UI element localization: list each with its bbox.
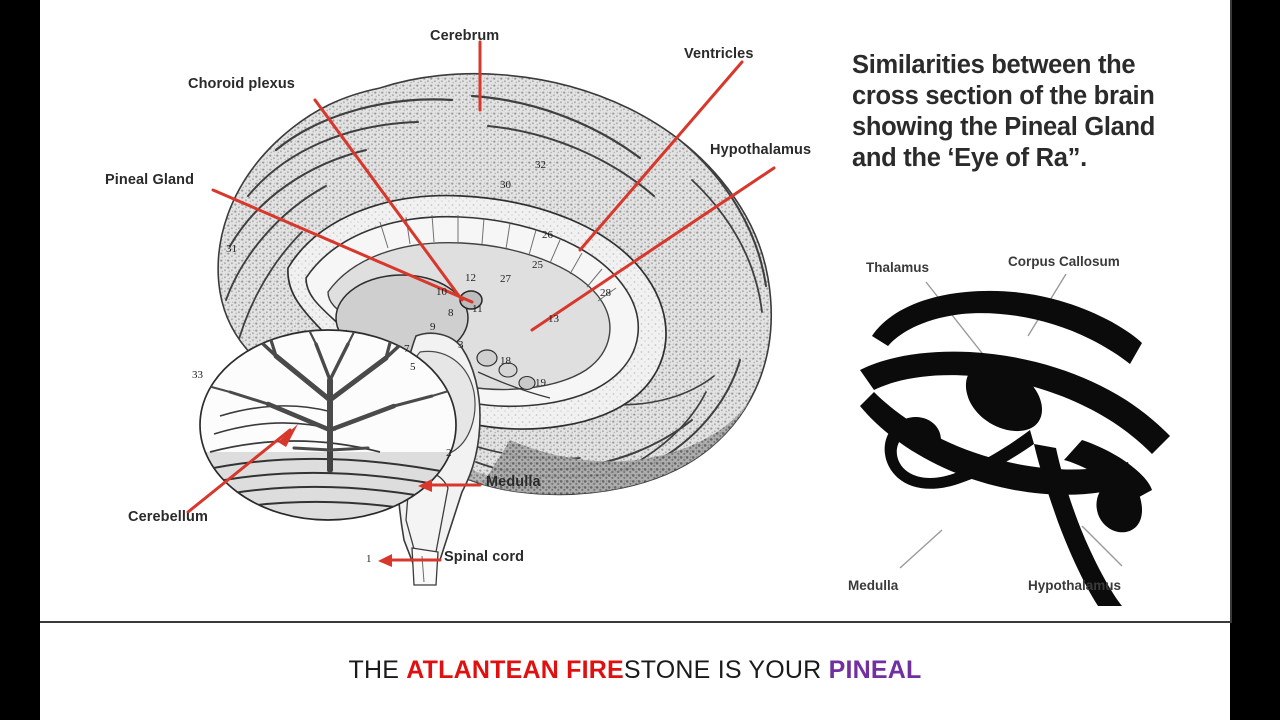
- eye-of-ra-glyph: [860, 291, 1170, 606]
- svg-text:10: 10: [436, 286, 448, 298]
- eye-label-corpus-callosum: Corpus Callosum: [1008, 254, 1120, 269]
- caption-text: THE ATLANTEAN FIRESTONE IS YOUR PINEAL: [349, 656, 922, 685]
- svg-text:12: 12: [465, 272, 476, 284]
- svg-text:25: 25: [532, 259, 544, 271]
- svg-text:8: 8: [448, 307, 454, 319]
- brain-cross-section-figure: 32 30 26 25 27 28 12 10 11 9 8 7 5 3 2 1: [80, 0, 840, 620]
- spinal-cord-shape: [412, 548, 438, 585]
- eye-of-ra-figure: Thalamus Corpus Callosum Medulla Hypotha…: [830, 240, 1230, 610]
- brain-illustration: 32 30 26 25 27 28 12 10 11 9 8 7 5 3 2 1: [80, 0, 840, 620]
- brain-label-medulla: Medulla: [486, 474, 541, 490]
- headline-line-4: and the ‘Eye of Ra”.: [852, 143, 1212, 174]
- slide-panel: 32 30 26 25 27 28 12 10 11 9 8 7 5 3 2 1: [40, 0, 1232, 623]
- eye-label-medulla: Medulla: [848, 578, 898, 593]
- brain-label-pineal-gland: Pineal Gland: [105, 172, 194, 188]
- svg-text:18: 18: [500, 355, 512, 367]
- caption-seg-4: PINEAL: [829, 656, 922, 684]
- svg-text:7: 7: [404, 343, 410, 355]
- headline-text: Similarities between the cross section o…: [852, 50, 1212, 174]
- svg-text:1: 1: [366, 553, 372, 565]
- eye-of-ra-illustration: [830, 240, 1230, 610]
- svg-text:9: 9: [430, 321, 436, 333]
- brain-label-hypothalamus: Hypothalamus: [710, 142, 811, 158]
- svg-text:11: 11: [472, 303, 483, 315]
- svg-text:19: 19: [535, 377, 547, 389]
- svg-text:27: 27: [500, 273, 512, 285]
- caption-seg-3: STONE IS YOUR: [624, 656, 829, 684]
- svg-text:33: 33: [192, 369, 204, 381]
- svg-text:3: 3: [458, 339, 464, 351]
- caption-seg-2: ATLANTEAN FIRE: [406, 656, 624, 684]
- svg-text:26: 26: [542, 229, 554, 241]
- brain-label-cerebellum: Cerebellum: [128, 509, 208, 525]
- svg-text:13: 13: [548, 313, 560, 325]
- caption-band: THE ATLANTEAN FIRESTONE IS YOUR PINEAL: [40, 623, 1230, 720]
- headline-line-3: showing the Pineal Gland: [852, 112, 1212, 143]
- svg-text:31: 31: [226, 243, 237, 255]
- svg-text:30: 30: [500, 179, 512, 191]
- svg-text:28: 28: [600, 287, 612, 299]
- brain-label-ventricles: Ventricles: [684, 46, 754, 62]
- brain-label-cerebrum: Cerebrum: [430, 28, 499, 44]
- headline-line-2: cross section of the brain: [852, 81, 1212, 112]
- svg-text:2: 2: [446, 447, 452, 459]
- eye-label-hypothalamus: Hypothalamus: [1028, 578, 1121, 593]
- svg-text:32: 32: [535, 159, 546, 171]
- eye-label-thalamus: Thalamus: [866, 260, 929, 275]
- headline-line-1: Similarities between the: [852, 50, 1212, 81]
- svg-text:5: 5: [410, 361, 416, 373]
- caption-seg-1: THE: [349, 656, 407, 684]
- brain-label-choroid-plexus: Choroid plexus: [188, 76, 295, 92]
- brain-label-spinal-cord: Spinal cord: [444, 549, 524, 565]
- slide-stage: 32 30 26 25 27 28 12 10 11 9 8 7 5 3 2 1: [0, 0, 1280, 720]
